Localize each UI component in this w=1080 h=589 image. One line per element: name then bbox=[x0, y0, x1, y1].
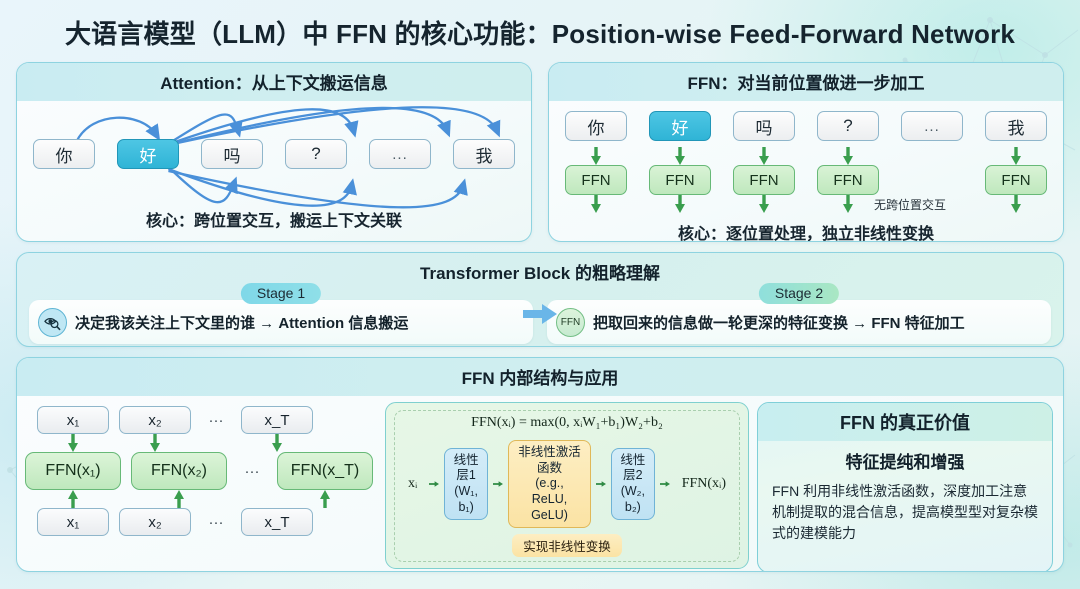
ffn-structure-body: x₁ x₂ ··· x_T bbox=[17, 396, 1063, 572]
ffn-detail-box: FFN(xᵢ) = max(0, xᵢW₁+b₁)W₂+b₂ xᵢ 线性层1 (… bbox=[385, 402, 749, 569]
ffn-box[interactable]: FFN bbox=[985, 165, 1047, 195]
ffn-value-title: FFN 的真正价值 bbox=[758, 403, 1052, 441]
ffn-panel-header: FFN：对当前位置做进一步加工 bbox=[549, 63, 1063, 101]
up-arrow-icon bbox=[67, 490, 79, 508]
attention-panel-header: Attention：从上下文搬运信息 bbox=[17, 63, 531, 101]
attention-token[interactable]: 我 bbox=[453, 139, 515, 169]
ffn-value-subtitle: 特征提纯和增强 bbox=[758, 441, 1052, 479]
ffn-token[interactable]: 我 bbox=[985, 111, 1047, 141]
ffn-box[interactable]: FFN bbox=[733, 165, 795, 195]
right-arrow-icon bbox=[493, 479, 503, 489]
right-arrow-icon bbox=[596, 479, 606, 489]
down-arrow-icon bbox=[590, 147, 602, 165]
pipeline-linear2-line2: (W₂, b₂) bbox=[621, 484, 645, 514]
pipeline-input-label: xᵢ bbox=[401, 471, 424, 497]
stage-2-bar[interactable]: FFN 把取回来的信息做一轮更深的特征变换 → FFN 特征加工 bbox=[547, 300, 1051, 344]
ffn-token-ellipsis[interactable]: ... bbox=[901, 111, 963, 141]
ffn-column: FFN bbox=[985, 147, 1047, 213]
attention-token[interactable]: 吗 bbox=[201, 139, 263, 169]
stage-1-text: 决定我该关注上下文里的谁 → Attention 信息搬运 bbox=[75, 312, 408, 333]
ffn-node-box[interactable]: FFN(x₁) bbox=[25, 452, 121, 490]
pipeline-activation-line1: 非线性激活函数 bbox=[518, 445, 581, 475]
ffn-token[interactable]: 你 bbox=[565, 111, 627, 141]
ffn-value-card: FFN 的真正价值 特征提纯和增强 FFN 利用非线性激活函数，深度加工注意机制… bbox=[757, 402, 1053, 572]
pipeline-linear2-box[interactable]: 线性层2 (W₂, b₂) bbox=[611, 448, 655, 521]
down-arrow-icon bbox=[758, 147, 770, 165]
input-token-box[interactable]: x₁ bbox=[37, 508, 109, 536]
ffn-token[interactable]: 吗 bbox=[733, 111, 795, 141]
down-arrow-icon bbox=[67, 434, 79, 452]
input-token-box[interactable]: x₂ bbox=[119, 508, 191, 536]
down-arrow-icon bbox=[1010, 195, 1022, 213]
transformer-block-card: Transformer Block 的粗略理解 Stage 1 bbox=[16, 252, 1064, 347]
ffn-formula: FFN(xᵢ) = max(0, xᵢW₁+b₁)W₂+b₂ bbox=[471, 415, 663, 431]
ffn-value-body: FFN 利用非线性激活函数，深度加工注意机制提取的混合信息，提高模型型对复杂模式… bbox=[758, 479, 1052, 544]
ffn-token[interactable]: ? bbox=[817, 111, 879, 141]
transformer-block-title: Transformer Block 的粗略理解 bbox=[17, 253, 1063, 284]
ffn-detail-column: FFN(xᵢ) = max(0, xᵢW₁+b₁)W₂+b₂ xᵢ 线性层1 (… bbox=[385, 402, 749, 572]
ffn-nonlinear-note: 实现非线性变换 bbox=[512, 534, 622, 557]
ffn-nodes-row: FFN(x₁) FFN(x₂) ··· FFN(x_T) bbox=[25, 452, 377, 490]
ffn-token-row: 你 好 吗 ? ... 我 bbox=[549, 111, 1063, 141]
attention-token[interactable]: ? bbox=[285, 139, 347, 169]
stage-transition-arrow-icon bbox=[523, 304, 557, 324]
ffn-box[interactable]: FFN bbox=[817, 165, 879, 195]
down-arrow-icon bbox=[758, 195, 770, 213]
attention-token[interactable]: 你 bbox=[33, 139, 95, 169]
input-token-box[interactable]: x_T bbox=[241, 406, 313, 434]
pipeline-activation-box[interactable]: 非线性激活函数 (e.g., ReLU, GeLU) bbox=[508, 440, 591, 528]
input-token-box[interactable]: x_T bbox=[241, 508, 313, 536]
pipeline-linear1-line2: (W₁, b₁) bbox=[454, 484, 478, 514]
input-token-box[interactable]: x₁ bbox=[37, 406, 109, 434]
ffn-structure-header: FFN 内部结构与应用 bbox=[17, 358, 1063, 396]
ellipsis-label: ··· bbox=[201, 412, 231, 429]
attention-token-ellipsis[interactable]: ... bbox=[369, 139, 431, 169]
down-arrow-icon bbox=[674, 195, 686, 213]
ffn-box[interactable]: FFN bbox=[649, 165, 711, 195]
row-transformer-block: Transformer Block 的粗略理解 Stage 1 bbox=[16, 252, 1064, 347]
pipeline-output-label: FFN(xᵢ) bbox=[675, 471, 733, 497]
ffn-structure-card: FFN 内部结构与应用 x₁ x₂ ··· x_T bbox=[16, 357, 1064, 572]
stage-2: Stage 2 FFN 把取回来的信息做一轮更深的特征变换 → FFN 特征加工 bbox=[547, 287, 1051, 344]
ffn-token-highlighted[interactable]: 好 bbox=[649, 111, 711, 141]
row-attention-ffn: Attention：从上下文搬运信息 bbox=[16, 62, 1064, 242]
ffn-column: FFN bbox=[649, 147, 711, 213]
ellipsis-label: ··· bbox=[237, 463, 267, 480]
input-token-box[interactable]: x₂ bbox=[119, 406, 191, 434]
attention-panel-body: 你 好 吗 ? ... 我 核心：跨位置交互，搬运上下文关联 bbox=[17, 101, 531, 241]
down-arrow-icon bbox=[674, 147, 686, 165]
ffn-node-box[interactable]: FFN(x₂) bbox=[131, 452, 227, 490]
stage-1: Stage 1 决定我该关注上下文里的谁 → Attention 信息搬运 bbox=[29, 287, 533, 344]
pipeline-activation-line2: (e.g., ReLU, GeLU) bbox=[531, 476, 568, 521]
stage-2-text: 把取回来的信息做一轮更深的特征变换 → FFN 特征加工 bbox=[593, 312, 965, 333]
row-ffn-structure: FFN 内部结构与应用 x₁ x₂ ··· x_T bbox=[16, 357, 1064, 572]
eye-search-icon bbox=[38, 308, 67, 337]
ffn-pipeline: xᵢ 线性层1 (W₁, b₁) 非线性激活函数 (e.g., ReLU, Ge… bbox=[401, 440, 733, 528]
ffn-down-arrows-row bbox=[25, 434, 377, 452]
ffn-top-inputs-row: x₁ x₂ ··· x_T bbox=[25, 406, 377, 434]
ellipsis-label: ··· bbox=[201, 514, 231, 531]
ffn-up-arrows-row bbox=[25, 490, 377, 508]
ffn-column: FFN bbox=[565, 147, 627, 213]
down-arrow-icon bbox=[1010, 147, 1022, 165]
ffn-node-box[interactable]: FFN(x_T) bbox=[277, 452, 373, 490]
down-arrow-icon bbox=[271, 434, 283, 452]
up-arrow-icon bbox=[173, 490, 185, 508]
stage-1-badge: Stage 1 bbox=[241, 283, 321, 304]
pipeline-linear1-line1: 线性层1 bbox=[454, 453, 479, 483]
ffn-panel-body: 你 好 吗 ? ... 我 FFN FFN bbox=[549, 101, 1063, 242]
attention-token-highlighted[interactable]: 好 bbox=[117, 139, 179, 169]
ffn-bottom-inputs-row: x₁ x₂ ··· x_T bbox=[25, 508, 377, 536]
ffn-panel: FFN：对当前位置做进一步加工 你 好 吗 ? ... 我 FFN bbox=[548, 62, 1064, 242]
down-arrow-icon bbox=[149, 434, 161, 452]
down-arrow-icon bbox=[590, 195, 602, 213]
ffn-circle-icon: FFN bbox=[556, 308, 585, 337]
pipeline-linear2-line1: 线性层2 bbox=[620, 453, 645, 483]
ffn-structure-footer: 对每个 token (x₁, x₂, …, x_T) 单独应用 bbox=[385, 571, 749, 572]
ffn-detail-inner: FFN(xᵢ) = max(0, xᵢW₁+b₁)W₂+b₂ xᵢ 线性层1 (… bbox=[394, 410, 740, 562]
ffn-column: FFN bbox=[817, 147, 879, 213]
ffn-box[interactable]: FFN bbox=[565, 165, 627, 195]
right-arrow-icon bbox=[660, 479, 670, 489]
right-arrow-icon bbox=[429, 479, 439, 489]
ffn-token-grid: x₁ x₂ ··· x_T bbox=[25, 402, 377, 572]
ffn-panel-footer: 核心：逐位置处理，独立非线性变换 bbox=[549, 220, 1063, 242]
pipeline-linear1-box[interactable]: 线性层1 (W₁, b₁) bbox=[444, 448, 488, 521]
stage-1-bar[interactable]: 决定我该关注上下文里的谁 → Attention 信息搬运 bbox=[29, 300, 533, 344]
page-title: 大语言模型（LLM）中 FFN 的核心功能：Position-wise Feed… bbox=[16, 0, 1064, 62]
ffn-column: FFN bbox=[733, 147, 795, 213]
down-arrow-icon bbox=[842, 195, 854, 213]
attention-panel: Attention：从上下文搬运信息 bbox=[16, 62, 532, 242]
ffn-no-interaction-note: 无跨位置交互 bbox=[874, 196, 946, 213]
down-arrow-icon bbox=[842, 147, 854, 165]
ffn-column-row: FFN FFN FFN FFN bbox=[549, 147, 1063, 213]
infographic-page: 大语言模型（LLM）中 FFN 的核心功能：Position-wise Feed… bbox=[0, 0, 1080, 589]
up-arrow-icon bbox=[319, 490, 331, 508]
stage-2-badge: Stage 2 bbox=[759, 283, 839, 304]
attention-arcs bbox=[17, 101, 531, 241]
